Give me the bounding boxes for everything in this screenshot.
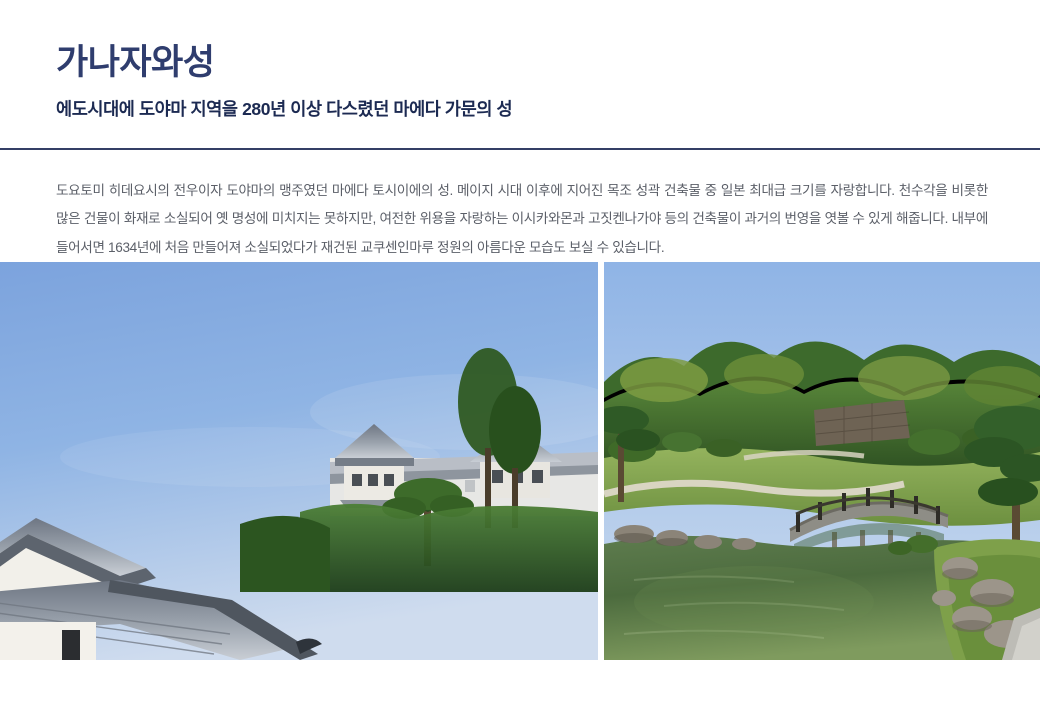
page-title: 가나자와성 xyxy=(56,44,984,83)
description-paragraph: 도요토미 히데요시의 전우이자 도야마의 맹주였던 마에다 토시이에의 성. 메… xyxy=(56,177,988,263)
photo-gyokusen-inmaru-garden[interactable] xyxy=(604,262,1040,660)
header-divider xyxy=(0,148,1040,150)
photo-gallery xyxy=(0,262,1040,660)
footer-whitespace xyxy=(0,660,1040,720)
page-header: 가나자와성 에도시대에 도야마 지역을 280년 이상 다스렸던 마에다 가문의… xyxy=(0,0,1040,120)
garden-photo-illustration xyxy=(604,262,1040,660)
castle-photo-illustration xyxy=(0,262,598,660)
photo-kanazawa-castle-gate[interactable] xyxy=(0,262,598,660)
page-subtitle: 에도시대에 도야마 지역을 280년 이상 다스렸던 마에다 가문의 성 xyxy=(56,99,984,121)
castle-info-page: 가나자와성 에도시대에 도야마 지역을 280년 이상 다스렸던 마에다 가문의… xyxy=(0,0,1040,720)
